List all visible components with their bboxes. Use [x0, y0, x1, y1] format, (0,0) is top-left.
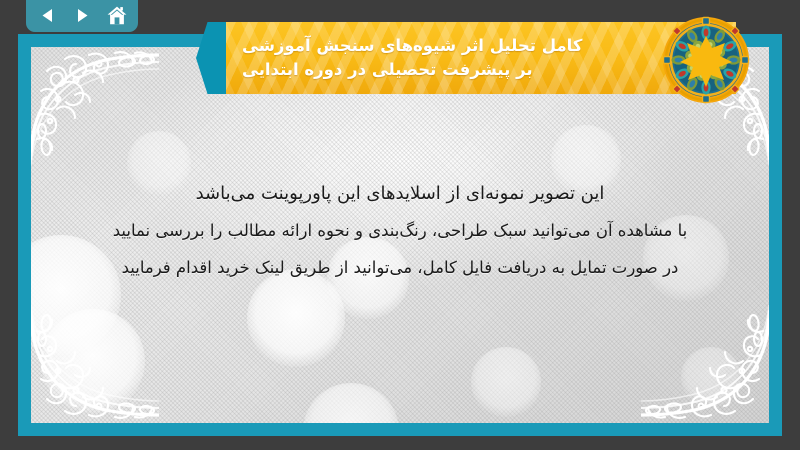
home-icon: [107, 6, 127, 25]
screenshot-root: این تصویر نمونه‌ای از اسلایدهای این پاور…: [0, 0, 800, 450]
arabesque-corner-top-left: [31, 47, 159, 165]
triangle-left-icon: [39, 7, 56, 24]
slide-body-text: این تصویر نمونه‌ای از اسلایدهای این پاور…: [61, 175, 739, 286]
body-line-3: در صورت تمایل به دریافت فایل کامل، می‌تو…: [61, 249, 739, 286]
home-button[interactable]: [104, 3, 130, 27]
slide-navigation-bar: [26, 0, 138, 32]
next-slide-button[interactable]: [69, 3, 95, 27]
body-line-2: با مشاهده آن می‌توانید سبک طراحی، رنگ‌بن…: [61, 212, 739, 249]
persian-mandala-medallion: [662, 16, 750, 104]
slide-title-banner: کامل تحلیل اثر شیوه‌های سنجش آموزشی بر پ…: [196, 22, 736, 94]
prev-slide-button[interactable]: [34, 3, 60, 27]
title-line-2: بر پیشرفت تحصیلی در دوره ابتدایی: [242, 58, 533, 82]
arabesque-corner-bottom-left: [31, 305, 159, 423]
slide-content-panel: این تصویر نمونه‌ای از اسلایدهای این پاور…: [31, 47, 769, 423]
body-line-1: این تصویر نمونه‌ای از اسلایدهای این پاور…: [61, 175, 739, 212]
banner-title-area: کامل تحلیل اثر شیوه‌های سنجش آموزشی بر پ…: [226, 22, 736, 94]
title-line-1: کامل تحلیل اثر شیوه‌های سنجش آموزشی: [242, 34, 582, 58]
arabesque-corner-bottom-right: [641, 305, 769, 423]
triangle-right-icon: [74, 7, 91, 24]
